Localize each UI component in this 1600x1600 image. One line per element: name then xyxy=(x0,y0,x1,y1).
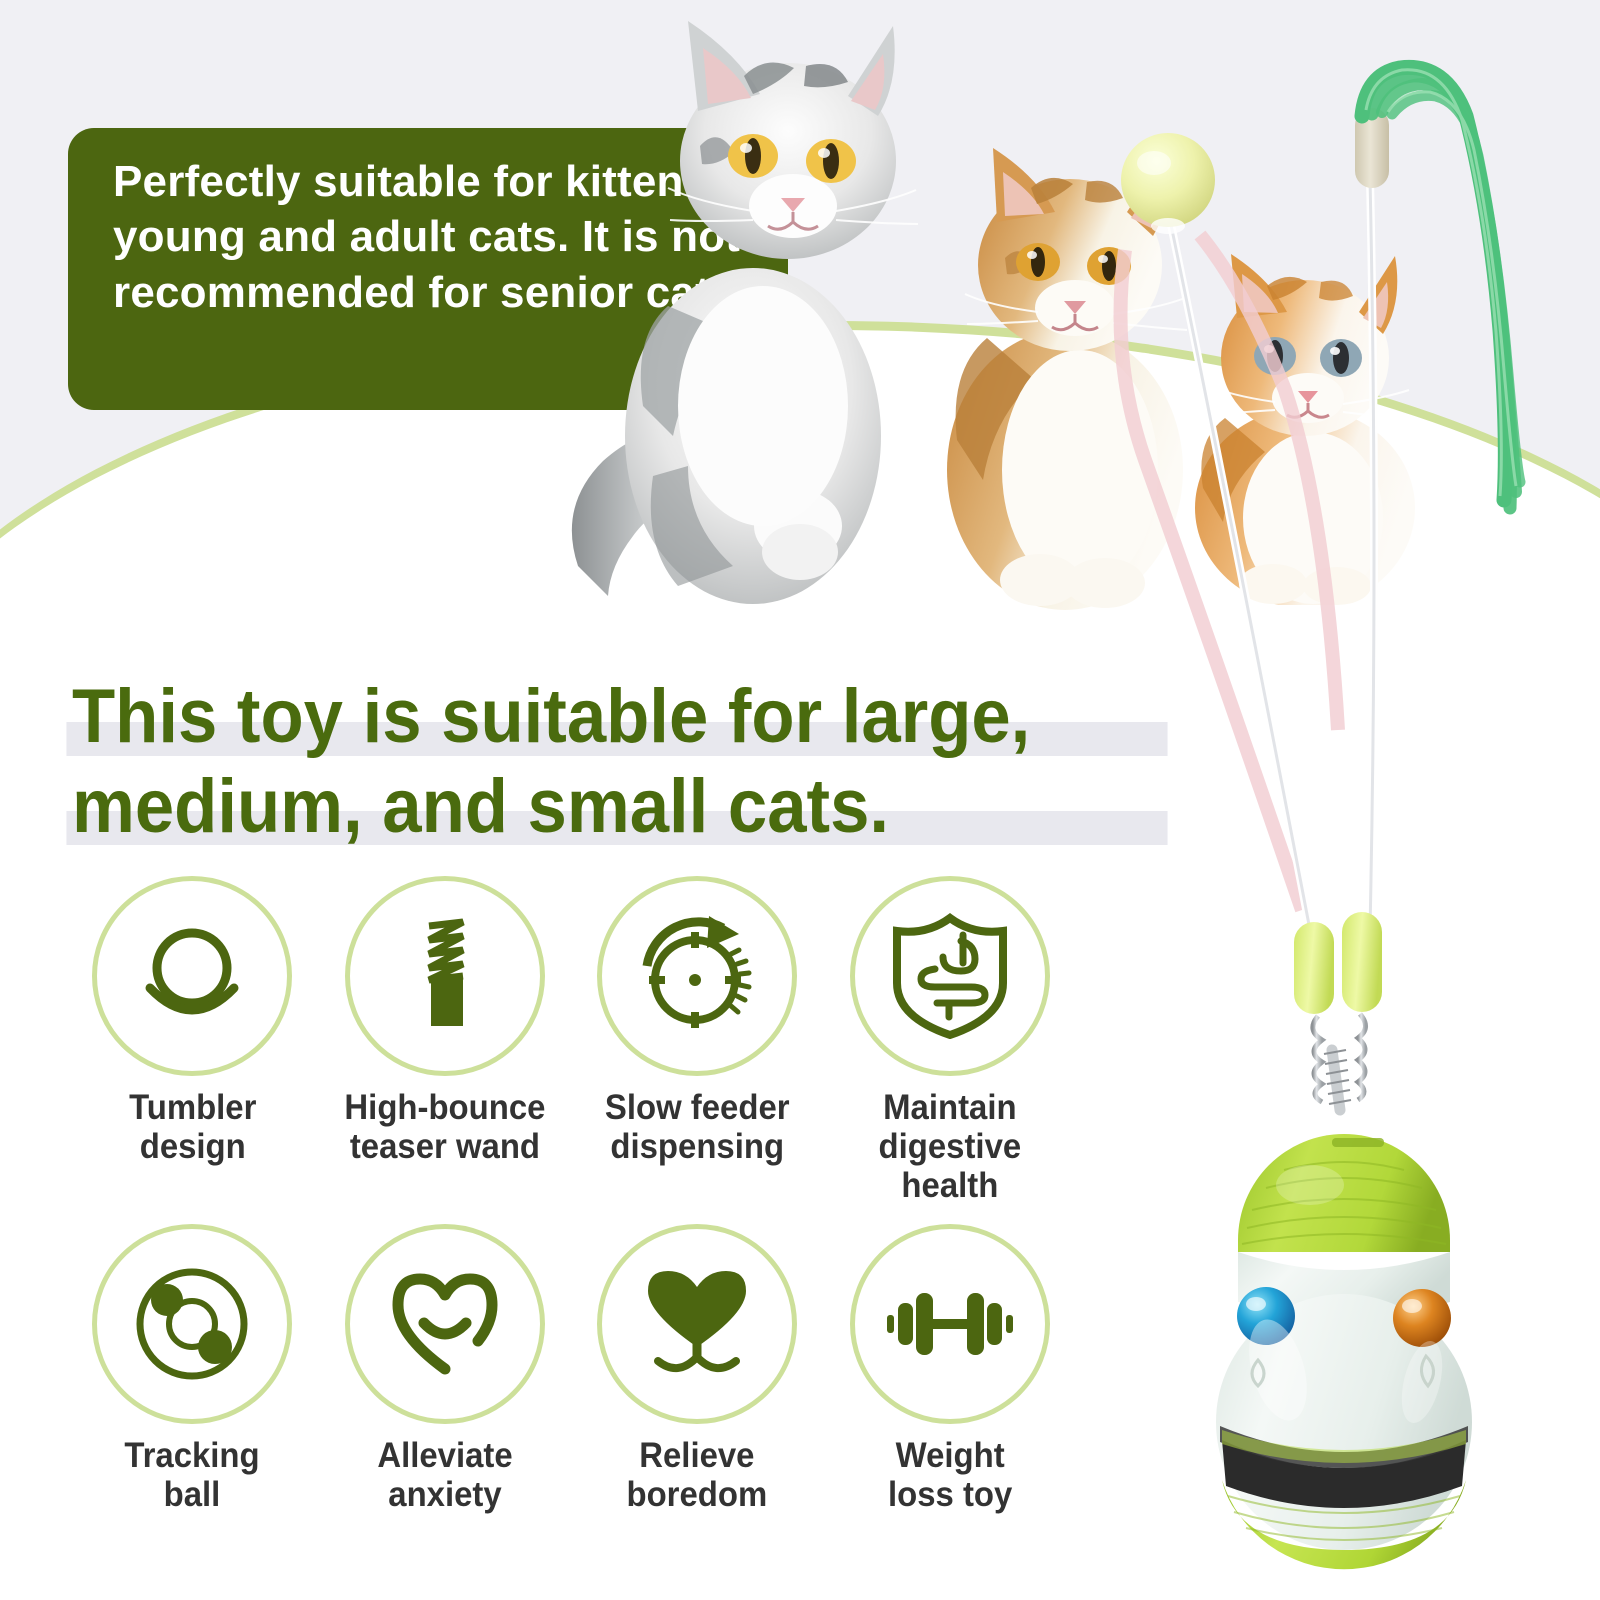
headline-line-2: medium, and small cats. xyxy=(72,762,1160,852)
feature-slow-feeder: Slow feeder dispensing xyxy=(571,876,824,1206)
feature-label: High-bounce teaser wand xyxy=(344,1088,545,1166)
feature-label: Alleviate anxiety xyxy=(377,1436,512,1514)
headline-line-2-text: medium, and small cats. xyxy=(72,764,889,849)
infographic-page: Perfectly suitable for kittens, young an… xyxy=(0,0,1600,1600)
feature-relieve-boredom: Relieve boredom xyxy=(571,1224,824,1514)
feature-tracking-ball: Tracking ball xyxy=(66,1224,319,1514)
page-title: This toy is suitable for large, medium, … xyxy=(72,672,1242,851)
feature-circle xyxy=(597,1224,797,1424)
smiling-heart-icon xyxy=(384,1265,506,1383)
dumbbell-icon xyxy=(885,1279,1015,1369)
feature-tumbler-design: Tumbler design xyxy=(66,876,319,1206)
feature-label: Maintain digestive health xyxy=(878,1088,1021,1206)
feature-teaser-wand: High-bounce teaser wand xyxy=(319,876,572,1206)
feature-circle xyxy=(850,876,1050,1076)
timer-icon xyxy=(635,914,759,1038)
feature-label: Tracking ball xyxy=(125,1436,260,1514)
feature-label: Weight loss toy xyxy=(888,1436,1012,1514)
feature-digestive-health: Maintain digestive health xyxy=(824,876,1077,1206)
feature-circle xyxy=(850,1224,1050,1424)
feature-circle xyxy=(345,1224,545,1424)
cat-photo-grey-white xyxy=(548,6,948,616)
headline-line-1: This toy is suitable for large, xyxy=(72,672,1160,762)
tracking-ball-icon xyxy=(131,1263,253,1385)
tumbler-icon xyxy=(132,916,252,1036)
feature-label: Relieve boredom xyxy=(627,1436,768,1514)
feature-label: Slow feeder dispensing xyxy=(605,1088,790,1166)
headline-line-1-text: This toy is suitable for large, xyxy=(72,674,1030,759)
feature-circle xyxy=(92,1224,292,1424)
feature-grid: Tumbler design High-bounce teaser wand xyxy=(66,876,1076,1514)
shield-intestine-icon xyxy=(891,913,1009,1039)
feature-circle xyxy=(345,876,545,1076)
feature-circle xyxy=(597,876,797,1076)
feature-label: Tumbler design xyxy=(129,1088,256,1166)
heart-whiskers-icon xyxy=(636,1265,758,1383)
feature-alleviate-anxiety: Alleviate anxiety xyxy=(319,1224,572,1514)
feature-weight-loss: Weight loss toy xyxy=(824,1224,1077,1514)
spring-wand-icon xyxy=(385,916,505,1036)
feature-circle xyxy=(92,876,292,1076)
